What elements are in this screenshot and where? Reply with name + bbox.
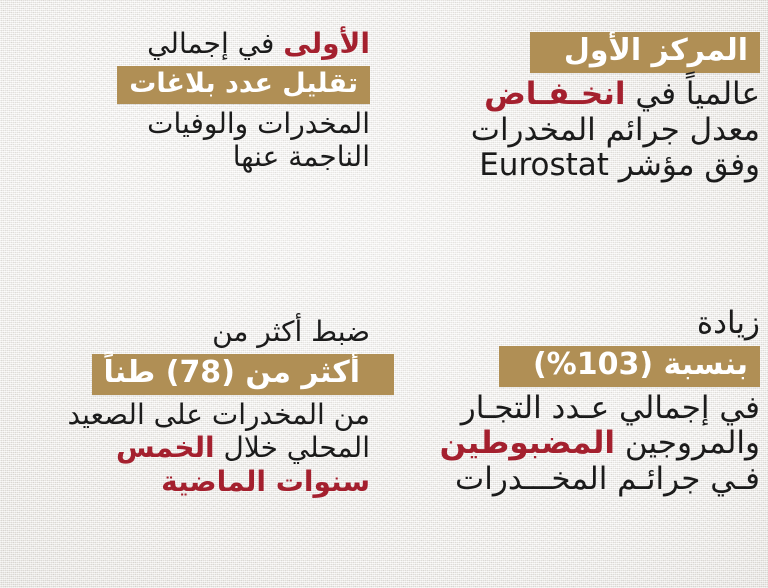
panel-dealers-increase: زيادة بنسبة (103%) في إجمالي عـدد التجـا…	[404, 308, 760, 499]
panel-bl-line-4-red: الخمس	[116, 431, 215, 464]
panel-global-rank: المركز الأول عالمياً في انخـفـاض معدل جر…	[404, 30, 760, 186]
panel-br-line-4-red: المضبوطين	[440, 425, 615, 461]
panel-bl-line-4: المحلي خلال الخمس	[76, 434, 370, 463]
panel-br-line-3: في إجمالي عـدد التجـار	[404, 393, 760, 425]
panel-tl-line-4: الناجمة عنها	[76, 143, 370, 172]
panel-tr-line-2-dark: عالمياً في	[635, 76, 760, 112]
panel-br-line-5: فـي جرائـم المخـــدرات	[404, 464, 760, 496]
panel-tr-line-3: معدل جرائم المخدرات	[404, 115, 760, 147]
panel-br-line-4: والمروجين المضبوطين	[404, 428, 760, 460]
panel-tr-line-4-eurostat: وفق مؤشر Eurostat	[404, 150, 760, 182]
panel-bl-line-3: من المخدرات على الصعيد	[76, 401, 370, 430]
panel-tl-line-1-red: الأولى	[283, 27, 370, 60]
highlight-increase-percentage: بنسبة (103%)	[499, 346, 760, 387]
panel-tl-highlight-row: تقليل عدد بلاغات	[76, 64, 370, 110]
panel-bl-line-4-dark: المحلي خلال	[224, 431, 370, 464]
highlight-global-rank: المركز الأول	[530, 32, 760, 73]
panel-br-highlight-row: بنسبة (103%)	[404, 344, 760, 393]
panel-tl-line-1: الأولى في إجمالي	[76, 30, 370, 59]
panel-tl-line-3: المخدرات والوفيات	[76, 110, 370, 139]
panel-br-line-1: زيادة	[404, 308, 760, 340]
panel-tr-line-2-red: انخـفـاض	[484, 76, 625, 112]
panel-tr-line-2: عالمياً في انخـفـاض	[404, 79, 760, 111]
panel-bl-highlight-row: أكثر من (78) طناً	[76, 352, 370, 401]
highlight-reports-reduction: تقليل عدد بلاغات	[117, 66, 370, 104]
panel-br-line-4-dark: والمروجين	[625, 425, 760, 461]
panel-tl-line-1-dark: في إجمالي	[147, 27, 274, 60]
panel-reports-reduction: الأولى في إجمالي تقليل عدد بلاغات المخدر…	[76, 30, 370, 177]
infographic-canvas: الأولى في إجمالي تقليل عدد بلاغات المخدر…	[0, 0, 768, 588]
panel-bl-line-1: ضبط أكثر من	[76, 318, 370, 347]
panel-bl-line-5: سنوات الماضية	[76, 468, 370, 497]
panel-tr-highlight-row: المركز الأول	[404, 30, 760, 79]
panel-seizures: ضبط أكثر من أكثر من (78) طناً من المخدرا…	[76, 318, 370, 501]
highlight-seizure-amount: أكثر من (78) طناً	[92, 354, 395, 395]
